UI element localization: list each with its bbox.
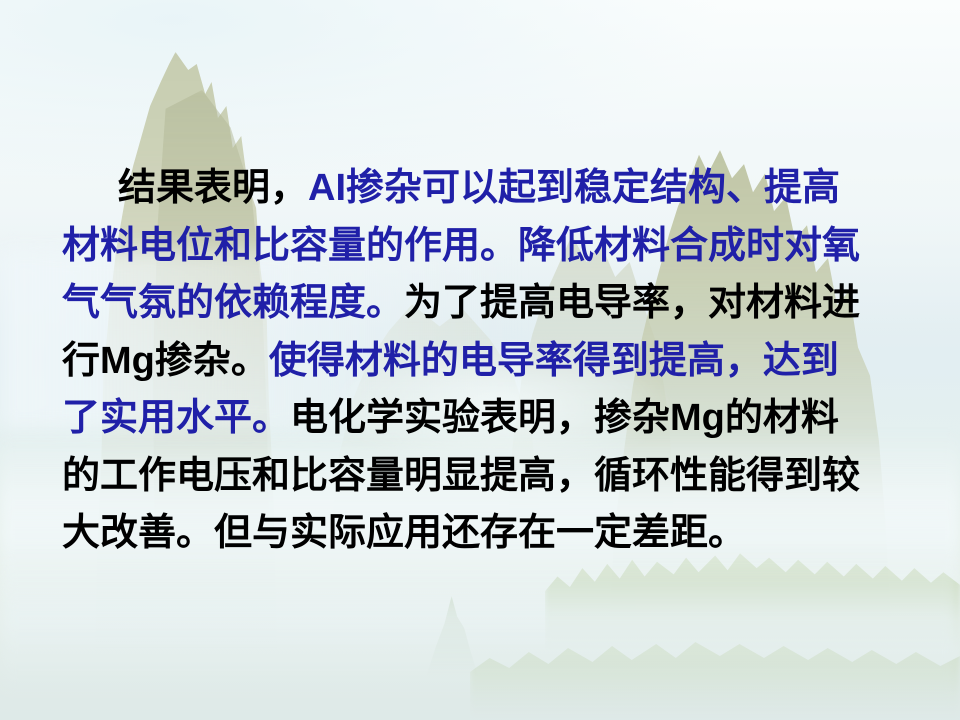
- body-line-1-segment-1: 结果表明，: [118, 167, 308, 209]
- body-line-4-segment-2: 使得材料的电导率得到提高，达到: [269, 340, 839, 382]
- body-line-4-segment-1: 行Mg掺杂。: [62, 340, 269, 382]
- body-line-2: 材料电位和比容量的作用。降低材料合成时对氧: [62, 218, 898, 276]
- body-line-6-segment-1: 的工作电压和比容量明显提高，循环性能得到较: [62, 455, 860, 497]
- body-line-6: 的工作电压和比容量明显提高，循环性能得到较: [62, 448, 898, 506]
- presentation-slide: 结果表明，AI掺杂可以起到稳定结构、提高 材料电位和比容量的作用。降低材料合成时…: [0, 0, 960, 720]
- body-line-4: 行Mg掺杂。使得材料的电导率得到提高，达到: [62, 333, 898, 391]
- body-line-5: 了实用水平。电化学实验表明，掺杂Mg的材料: [62, 390, 898, 448]
- body-line-3-segment-1: 气气氛的依赖程度。: [62, 282, 404, 324]
- body-line-3-segment-2: 为了提高电导率，对材料进: [404, 282, 860, 324]
- body-paragraph: 结果表明，AI掺杂可以起到稳定结构、提高 材料电位和比容量的作用。降低材料合成时…: [62, 160, 898, 563]
- slide-text-body: 结果表明，AI掺杂可以起到稳定结构、提高 材料电位和比容量的作用。降低材料合成时…: [0, 0, 960, 720]
- body-line-1: 结果表明，AI掺杂可以起到稳定结构、提高: [62, 160, 898, 218]
- body-line-7-segment-1: 大改善。但与实际应用还存在一定差距。: [62, 512, 746, 554]
- body-line-2-segment-1: 材料电位和比容量的作用。降低材料合成时对氧: [62, 225, 860, 267]
- body-line-1-segment-2: AI掺杂可以起到稳定结构、提高: [308, 167, 840, 209]
- body-line-5-segment-2: 电化学实验表明，掺杂Mg的材料: [290, 397, 839, 439]
- body-line-3: 气气氛的依赖程度。为了提高电导率，对材料进: [62, 275, 898, 333]
- body-line-7: 大改善。但与实际应用还存在一定差距。: [62, 505, 898, 563]
- body-line-5-segment-1: 了实用水平。: [62, 397, 290, 439]
